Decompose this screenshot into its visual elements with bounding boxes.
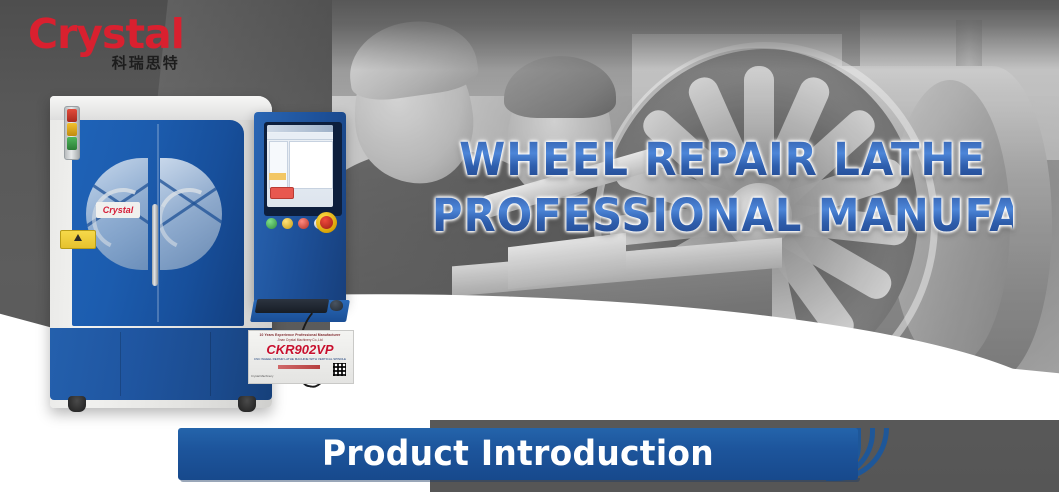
console-button-green[interactable]	[266, 218, 277, 229]
brand-logo: Crystal 科瑞思特	[28, 14, 184, 73]
screen-status-field	[269, 173, 286, 180]
console-button-red[interactable]	[298, 218, 309, 229]
qr-code-icon	[333, 363, 346, 376]
machine-base	[50, 328, 272, 400]
screen-main-pane	[289, 141, 333, 189]
door-handle[interactable]	[152, 204, 158, 286]
spec-plate-line-one: 10 Years Experience Professional Manufac…	[251, 333, 349, 337]
base-seam-right	[210, 332, 211, 396]
spec-plate-footer: Crystal Machinery	[251, 374, 321, 378]
spec-plate-color-bar	[278, 365, 320, 369]
tower-lamp-amber	[67, 123, 77, 136]
screen-title-bar	[267, 125, 333, 132]
spec-plate-subtitle: CNC WHEEL REPAIR LATHE MACHINE WITH VERT…	[251, 357, 349, 361]
machine-foot-right	[238, 396, 256, 412]
machine-foot-left	[68, 396, 86, 412]
status-light-tower	[64, 106, 80, 160]
brand-name: Crystal	[28, 14, 184, 54]
section-bar: Product Introduction	[178, 428, 958, 484]
section-bar-label: Product Introduction	[198, 428, 837, 480]
product-introduction-banner: Crystal	[0, 0, 1059, 492]
emergency-stop-button[interactable]	[316, 212, 337, 233]
screen-side-pane	[269, 141, 288, 189]
machine-model-number: CKR902VP	[248, 342, 352, 357]
screen-toolbar	[267, 133, 333, 140]
tower-lamp-green	[67, 137, 77, 150]
mouse[interactable]	[330, 300, 343, 311]
machine-cabinet-top	[50, 96, 272, 120]
cnc-wheel-repair-lathe: Crystal	[42, 84, 352, 424]
warning-label	[60, 230, 96, 249]
base-seam-left	[120, 332, 121, 396]
photo-top-fade	[332, 0, 1059, 70]
console-screen[interactable]	[267, 125, 333, 207]
screen-alert-button	[270, 187, 294, 199]
headline-line-two: PROFESSIONAL MANUFACTURER	[432, 188, 1013, 244]
headline: WHEEL REPAIR LATHE PROFESSIONAL MANUFACT…	[410, 132, 1035, 244]
headline-line-one: WHEEL REPAIR LATHE	[432, 132, 1013, 188]
door-logo-decal: Crystal	[96, 202, 140, 218]
console-button-yellow[interactable]	[282, 218, 293, 229]
tower-lamp-red	[67, 109, 77, 122]
